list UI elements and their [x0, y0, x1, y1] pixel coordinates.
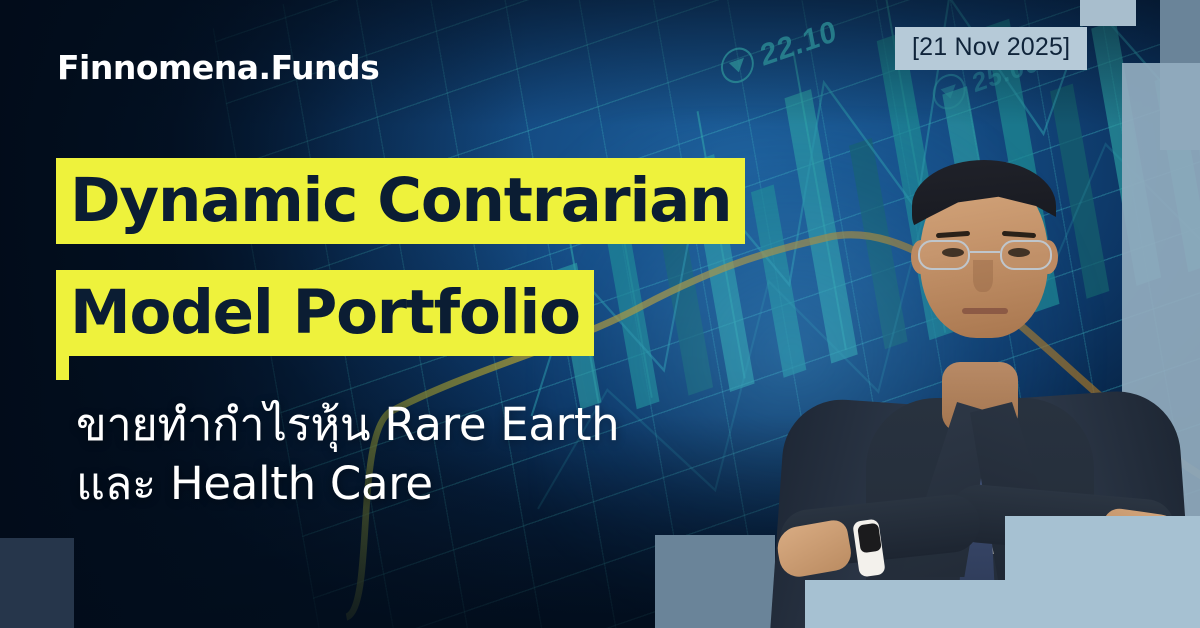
subtitle-line-1: ขายทำกำไรหุ้น Rare Earth	[76, 395, 619, 454]
date-badge: [21 Nov 2025]	[895, 27, 1087, 70]
subtitle-line-2: และ Health Care	[76, 454, 619, 513]
eyeglass-lens-left	[918, 240, 970, 270]
eyeglass-bridge	[970, 251, 1000, 253]
brand-logo[interactable]: Finnomena.Funds	[57, 48, 379, 87]
headline-row-2: Model Portfolio	[56, 270, 745, 356]
headline-block: Dynamic Contrarian Model Portfolio	[56, 158, 745, 380]
wristwatch-face	[857, 523, 882, 554]
eyeglass-lens-right	[1000, 240, 1052, 270]
headline-accent-stub	[56, 356, 69, 380]
nose	[973, 260, 993, 292]
decor-plate-left-slate	[0, 538, 74, 628]
subtitle-block: ขายทำกำไรหุ้น Rare Earth และ Health Care	[76, 395, 619, 514]
brand-logo-text: Finnomena.Funds	[57, 48, 379, 87]
decor-plate-bottom-light-2	[805, 580, 1200, 628]
decor-plate-top-right	[1080, 0, 1136, 26]
poster-canvas: 22.10 25.00	[0, 0, 1200, 628]
date-badge-label: [21 Nov 2025]	[912, 33, 1070, 61]
decor-plate-bottom-slate	[655, 535, 775, 628]
headline-line-1: Dynamic Contrarian	[56, 158, 745, 244]
mouth	[962, 308, 1008, 314]
headline-row-1: Dynamic Contrarian	[56, 158, 745, 244]
headline-line-2: Model Portfolio	[56, 270, 594, 356]
